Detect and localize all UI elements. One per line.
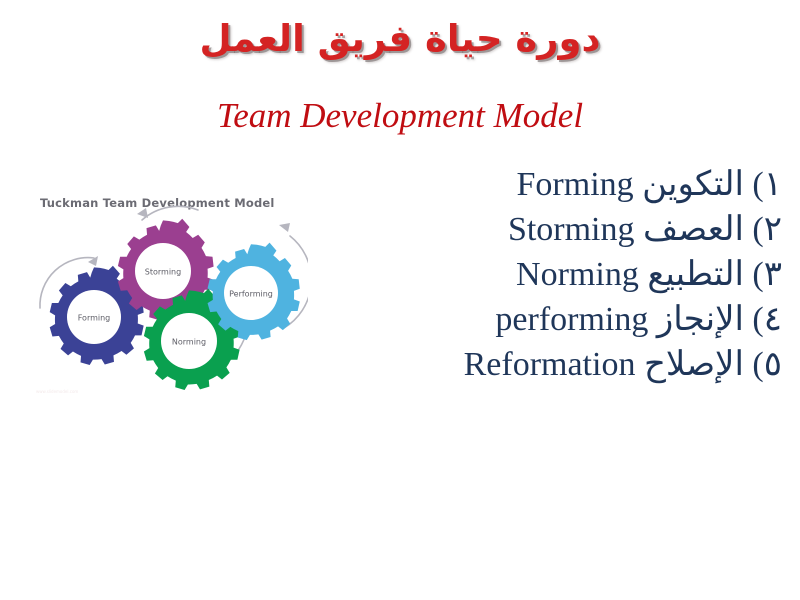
list-item-number: ٢) bbox=[752, 211, 782, 248]
list-item-number: ٤) bbox=[752, 301, 782, 338]
list-item-english: Storming bbox=[508, 211, 635, 248]
list-item: ٣) التطبيع Norming bbox=[362, 252, 782, 297]
page-title-arabic: دورة حياة فريق العمل bbox=[0, 18, 800, 61]
list-item-arabic: التطبيع bbox=[647, 256, 744, 293]
slide: دورة حياة فريق العمل Team Development Mo… bbox=[0, 0, 800, 600]
list-item: ٥) الإصلاح Reformation bbox=[362, 342, 782, 387]
list-item-number: ٣) bbox=[752, 256, 782, 293]
tuckman-diagram: Tuckman Team Development Model bbox=[22, 178, 308, 398]
svg-text:Performing: Performing bbox=[229, 290, 273, 299]
list-item-number: ٥) bbox=[752, 346, 782, 383]
list-item-arabic: التكوين bbox=[642, 166, 744, 203]
page-subtitle-english: Team Development Model bbox=[0, 96, 800, 136]
stages-list: ١) التكوين Forming ٢) العصف Storming ٣) … bbox=[362, 162, 782, 387]
list-item-english: performing bbox=[495, 301, 648, 338]
gear-performing: Performing bbox=[208, 243, 300, 341]
list-item: ١) التكوين Forming bbox=[362, 162, 782, 207]
list-item-arabic: العصف bbox=[643, 211, 744, 248]
list-item-english: Reformation bbox=[464, 346, 636, 383]
list-item-arabic: الإنجاز bbox=[657, 301, 744, 338]
diagram-credit: www.slidemodel.com bbox=[36, 389, 78, 394]
list-item: ٤) الإنجاز performing bbox=[362, 297, 782, 342]
svg-text:Norming: Norming bbox=[172, 338, 206, 347]
list-item-english: Forming bbox=[517, 166, 634, 203]
gears-illustration: Forming Storming Norming Performing bbox=[22, 178, 308, 398]
svg-text:Storming: Storming bbox=[145, 268, 181, 277]
list-item-arabic: الإصلاح bbox=[644, 346, 744, 383]
list-item-number: ١) bbox=[752, 166, 782, 203]
list-item: ٢) العصف Storming bbox=[362, 207, 782, 252]
svg-text:Forming: Forming bbox=[78, 314, 111, 323]
list-item-english: Norming bbox=[516, 256, 639, 293]
